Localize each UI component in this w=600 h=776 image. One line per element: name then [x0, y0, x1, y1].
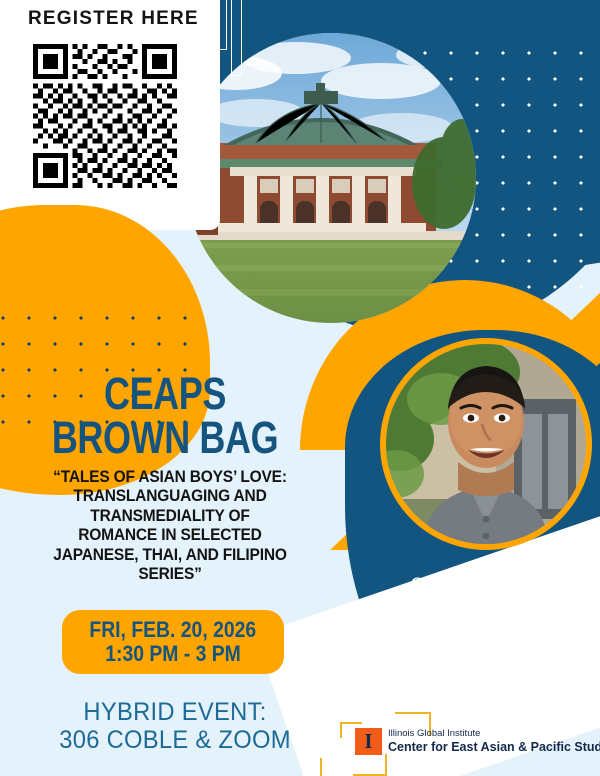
corner-bracket-bottom — [353, 754, 387, 776]
speaker-affiliation: Postdoctoral Research Associate School o… — [355, 626, 585, 710]
subtitle-line: TRANSLANGUAGING AND — [20, 487, 321, 506]
subtitle-line: ROMANCE IN SELECTED — [20, 526, 321, 545]
qr-code[interactable] — [33, 44, 177, 188]
affiliation-line: Information — [355, 676, 585, 693]
event-time: 1:30 PM - 3 PM — [105, 642, 241, 666]
speaker-name: CHEENO MARLO M. SAYUNO — [346, 601, 592, 622]
subtitle-line: TRANSMEDIALITY OF — [20, 507, 321, 526]
guest-speaker-label: Guest speaker — [345, 574, 595, 594]
subtitle-line: SERIES” — [20, 565, 321, 584]
affiliation-line: School of — [355, 660, 585, 677]
logo-text: Illinois Global Institute Center for Eas… — [388, 729, 600, 754]
corner-bracket-bottom-left — [320, 758, 344, 776]
date-time-badge: FRI, FEB. 20, 2026 1:30 PM - 3 PM — [62, 610, 284, 674]
register-here-title: REGISTER HERE — [28, 8, 199, 30]
affiliation-line: Postdoctoral — [355, 626, 585, 643]
speaker-headshot-illustration — [386, 344, 586, 544]
foellinger-auditorium-illustration — [186, 33, 476, 323]
logo-center-name: Center for East Asian & Pacific Studies — [388, 740, 600, 754]
event-poster: REGISTER HERE — [0, 0, 600, 776]
speaker-photo — [380, 338, 592, 550]
logo-institute-name: Illinois Global Institute — [388, 729, 600, 740]
title-line-2: BROWN BAG — [33, 416, 297, 460]
venue-line-1: HYBRID EVENT: — [33, 698, 318, 726]
subtitle-line: JAPANESE, THAI, AND FILIPINO — [20, 546, 321, 565]
organization-logo: I Illinois Global Institute Center for E… — [355, 728, 600, 755]
building-photo — [186, 33, 476, 323]
illinois-block-i-icon: I — [355, 728, 382, 755]
event-date: FRI, FEB. 20, 2026 — [90, 618, 257, 642]
talk-subtitle: “TALES OF ASIAN BOYS’ LOVE: TRANSLANGUAG… — [20, 468, 321, 585]
title-line-1: CEAPS — [33, 372, 297, 416]
subtitle-line: “TALES OF ASIAN BOYS’ LOVE: — [20, 468, 321, 487]
page-title: CEAPS BROWN BAG — [33, 372, 297, 460]
event-venue: HYBRID EVENT: 306 COBLE & ZOOM — [33, 698, 318, 754]
qr-code-image[interactable] — [33, 44, 177, 188]
affiliation-line: Research Associate — [355, 643, 585, 660]
venue-line-2: 306 COBLE & ZOOM — [33, 726, 318, 754]
logo-letter: I — [364, 731, 372, 752]
affiliation-line: Sciences — [355, 693, 585, 710]
